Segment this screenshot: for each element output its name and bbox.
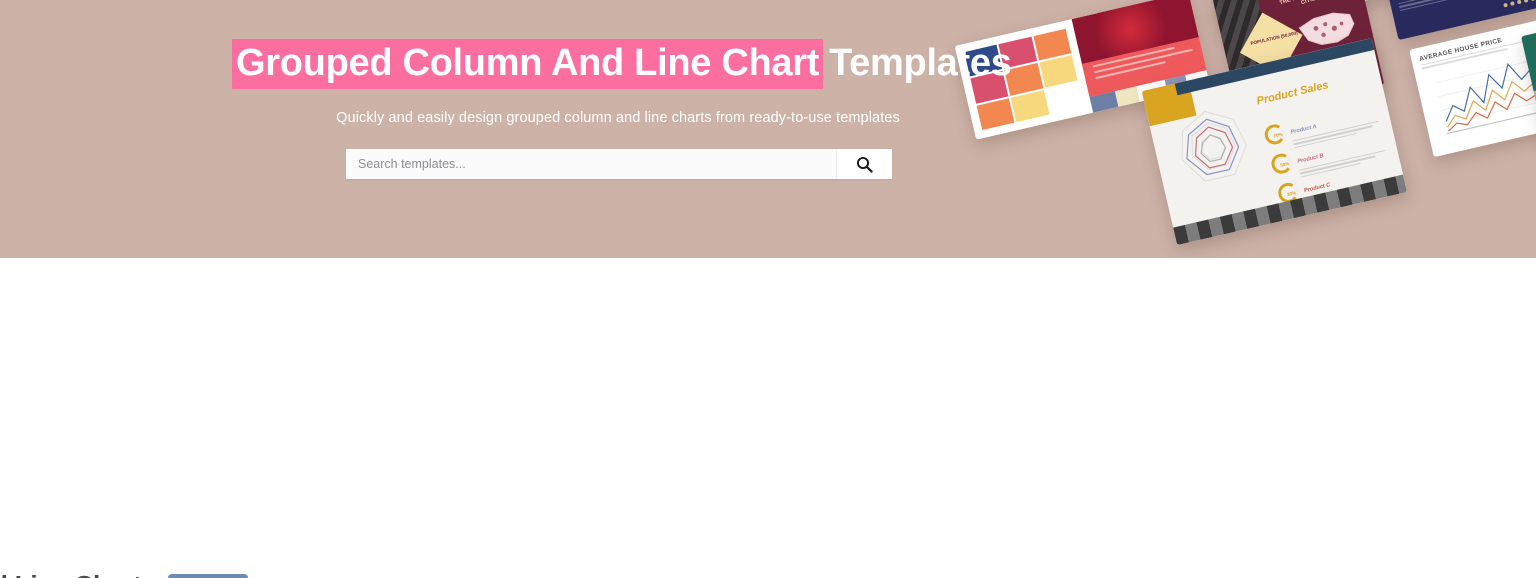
- collage-population-label: POPULATION (50,000): [1247, 30, 1301, 48]
- search-icon: [856, 156, 873, 173]
- section-title: d Line Charts: [0, 570, 156, 578]
- page-subtitle: Quickly and easily design grouped column…: [0, 110, 1236, 126]
- page-title-highlight: Grouped Column And Line Chart: [232, 39, 823, 89]
- collage-card-title: Product Sales: [1256, 79, 1330, 107]
- search-input[interactable]: [346, 149, 836, 179]
- hero-banner: POPULATION (50,000) THE 10 FASTEST GROWI…: [0, 0, 1536, 258]
- product-value: 70%: [1268, 130, 1289, 139]
- section-header: d Line Charts 8 templates: [0, 570, 248, 578]
- product-value: 30%: [1281, 189, 1302, 198]
- product-label: Product A: [1290, 124, 1317, 136]
- product-label: Product B: [1297, 153, 1324, 165]
- collage-card-house-price: AVERAGE HOUSE PRICE: [1409, 16, 1536, 157]
- page-title: Grouped Column And Line ChartTemplates: [232, 38, 1012, 88]
- product-value: 50%: [1274, 160, 1295, 169]
- page-title-rest: Templates: [823, 42, 1011, 84]
- search-bar[interactable]: [346, 149, 892, 179]
- template-count-badge: 8 templates: [168, 574, 249, 578]
- search-button[interactable]: [836, 149, 892, 179]
